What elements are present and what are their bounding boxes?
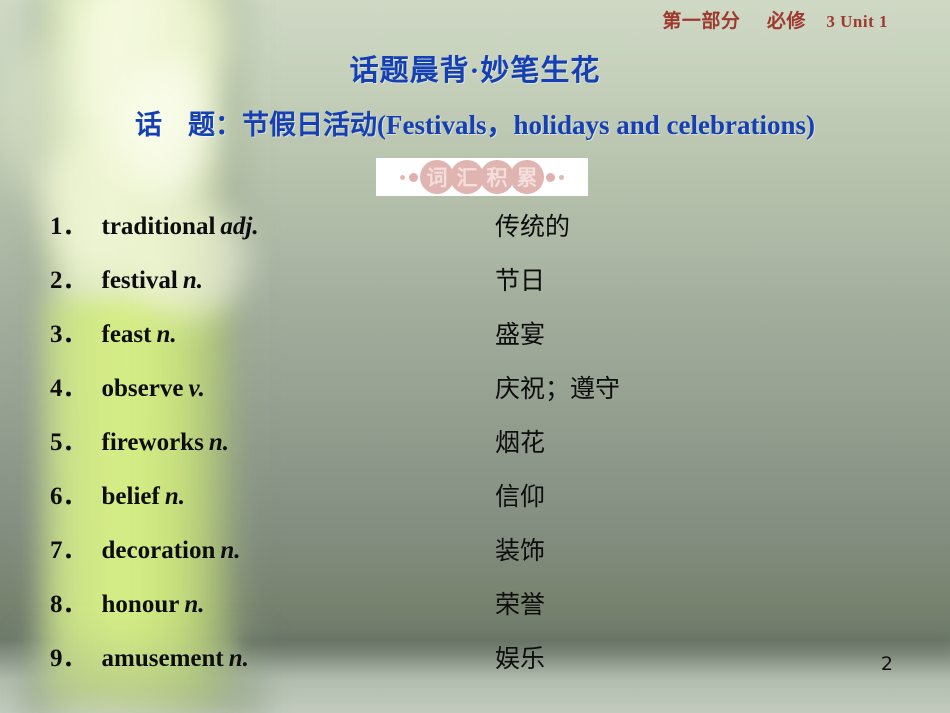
vocabulary-entry-english: 3．feastn.: [50, 314, 177, 350]
entry-meaning: 传统的: [495, 207, 570, 243]
entry-meaning: 烟花: [495, 423, 545, 459]
entry-number: 6．: [50, 476, 88, 512]
vocabulary-row: 9．amusementn. 娱乐: [0, 638, 950, 692]
vocabulary-entry-english: 8．honourn.: [50, 584, 204, 620]
badge-right-dots: [546, 173, 564, 182]
badge-circle-char: 累: [510, 160, 544, 194]
entry-word: observe: [102, 375, 184, 402]
entry-number: 3．: [50, 314, 88, 350]
entry-meaning: 荣誉: [495, 585, 545, 621]
entry-meaning: 盛宴: [495, 315, 545, 351]
entry-part-of-speech: n.: [165, 483, 185, 510]
entry-meaning: 装饰: [495, 531, 545, 567]
vocabulary-list: 1．traditionaladj. 传统的 2．festivaln. 节日 3．…: [0, 206, 950, 692]
badge-circle-char: 词: [420, 160, 454, 194]
vocabulary-entry-english: 9．amusementn.: [50, 638, 249, 674]
topic-label-first: 话: [135, 110, 162, 140]
entry-word: amusement: [102, 645, 224, 672]
topic-label-second: 题：: [188, 110, 242, 140]
entry-meaning: 庆祝；遵守: [495, 369, 620, 405]
vocabulary-entry-english: 5．fireworksn.: [50, 422, 229, 458]
badge-character-circles: 词 汇 积 累: [422, 160, 542, 194]
entry-part-of-speech: adj.: [220, 213, 258, 240]
entry-number: 4．: [50, 368, 88, 404]
entry-number: 9．: [50, 638, 88, 674]
vocabulary-row: 7．decorationn. 装饰: [0, 530, 950, 584]
vocabulary-entry-english: 7．decorationn.: [50, 530, 241, 566]
header-part: 第一部分: [662, 11, 740, 32]
entry-meaning: 信仰: [495, 477, 545, 513]
entry-part-of-speech: n.: [157, 321, 177, 348]
badge-circle-char: 积: [480, 160, 514, 194]
entry-part-of-speech: n.: [183, 267, 203, 294]
slide-canvas: 第一部分 必修 3 Unit 1 话题晨背·妙笔生花 话题：节假日活动(Fest…: [0, 0, 950, 713]
badge-left-dots: [400, 173, 418, 182]
dot-icon: [546, 173, 555, 182]
entry-word: feast: [102, 321, 152, 348]
entry-number: 1．: [50, 206, 88, 242]
topic-subtitle: 话题：节假日活动(Festivals，holidays and celebrat…: [0, 103, 950, 142]
vocabulary-row: 4．observev. 庆祝；遵守: [0, 368, 950, 422]
section-badge-vocabulary: 词 汇 积 累: [376, 158, 588, 196]
entry-word: decoration: [102, 537, 216, 564]
entry-number: 8．: [50, 584, 88, 620]
vocabulary-row: 8．honourn. 荣誉: [0, 584, 950, 638]
entry-number: 7．: [50, 530, 88, 566]
badge-circle-char: 汇: [450, 160, 484, 194]
entry-meaning: 节日: [495, 261, 545, 297]
slide-header: 第一部分 必修 3 Unit 1: [662, 6, 888, 33]
topic-english: (Festivals，holidays and celebrations): [377, 110, 815, 140]
vocabulary-row: 5．fireworksn. 烟花: [0, 422, 950, 476]
entry-word: belief: [102, 483, 160, 510]
entry-word: traditional: [102, 213, 216, 240]
entry-word: festival: [102, 267, 178, 294]
vocabulary-entry-english: 6．beliefn.: [50, 476, 185, 512]
entry-number: 5．: [50, 422, 88, 458]
vocabulary-row: 1．traditionaladj. 传统的: [0, 206, 950, 260]
entry-part-of-speech: n.: [184, 591, 204, 618]
header-book: 必修: [767, 11, 806, 32]
vocabulary-entry-english: 1．traditionaladj.: [50, 206, 259, 242]
vocabulary-row: 6．beliefn. 信仰: [0, 476, 950, 530]
dot-icon: [409, 173, 418, 182]
dot-icon: [559, 175, 564, 180]
page-number: 2: [881, 653, 893, 675]
entry-meaning: 娱乐: [495, 639, 545, 675]
entry-word: fireworks: [102, 429, 204, 456]
entry-part-of-speech: n.: [209, 429, 229, 456]
header-unit: 3 Unit 1: [826, 12, 888, 31]
vocabulary-entry-english: 2．festivaln.: [50, 260, 203, 296]
entry-part-of-speech: v.: [188, 375, 204, 402]
entry-word: honour: [102, 591, 180, 618]
entry-part-of-speech: n.: [229, 645, 249, 672]
dot-icon: [400, 175, 405, 180]
page-title: 话题晨背·妙笔生花: [0, 47, 950, 89]
vocabulary-entry-english: 4．observev.: [50, 368, 205, 404]
vocabulary-row: 3．feastn. 盛宴: [0, 314, 950, 368]
entry-number: 2．: [50, 260, 88, 296]
vocabulary-row: 2．festivaln. 节日: [0, 260, 950, 314]
entry-part-of-speech: n.: [220, 537, 240, 564]
topic-chinese: 节假日活动: [242, 110, 377, 140]
